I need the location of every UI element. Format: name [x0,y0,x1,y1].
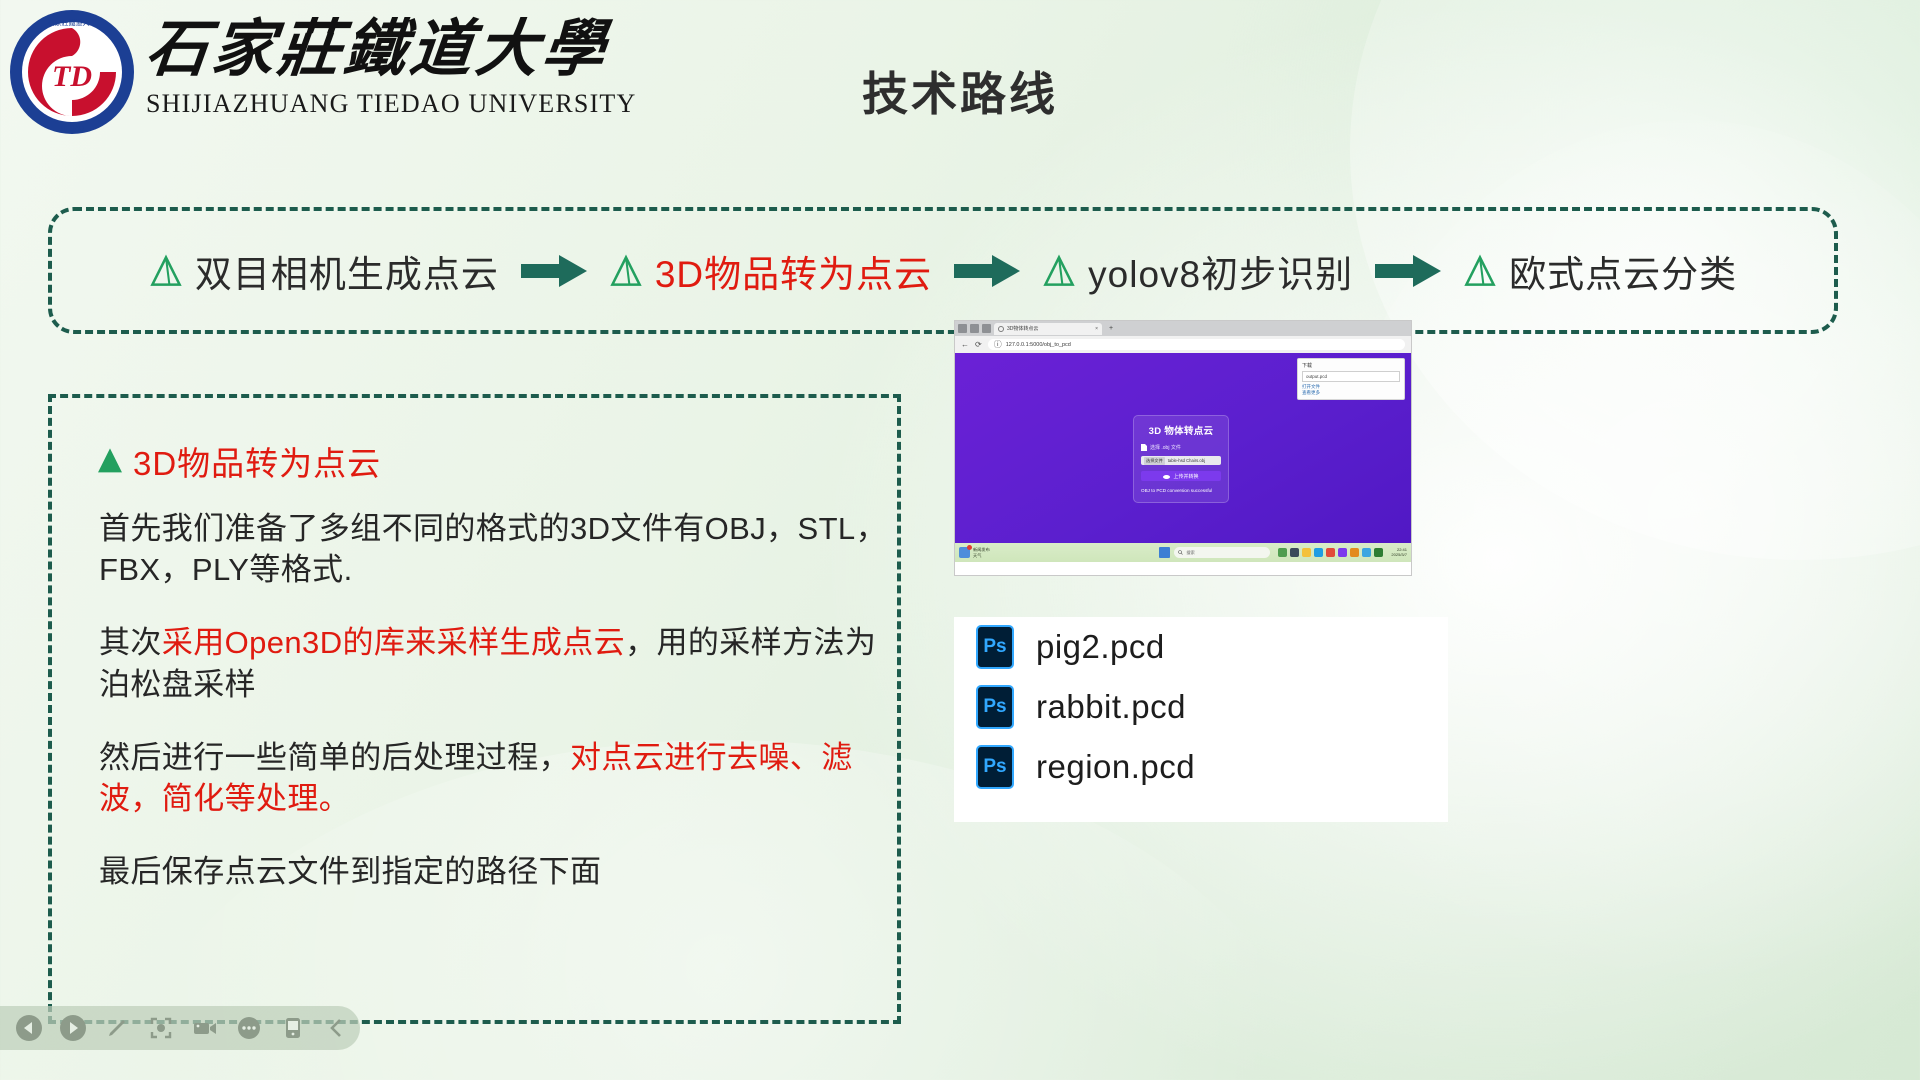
app-icon-2[interactable] [1290,548,1299,557]
flow-step-3: yolov8初步识别 [1042,244,1353,298]
start-button-icon[interactable] [1159,547,1170,558]
taskbar-notification-sub: 天气 [973,553,981,558]
paragraph-1-seg-1: 首先我们准备了多组不同的格式的3D文件有OBJ，STL，FBX，PLY等格式. [99,511,887,587]
conversion-status-text: OBJ to PCD conversion successful [1141,488,1221,493]
flow-step-2: 3D物品转为点云 [609,244,932,298]
app-icon-7[interactable] [1374,548,1383,557]
pen-icon[interactable] [102,1013,132,1043]
download-popup-title: 下载 [1302,362,1400,369]
taskbar-date: 2025/3/7 [1391,552,1407,557]
app-icon-4[interactable] [1338,548,1347,557]
file-name-label: region.pcd [1036,748,1195,786]
news-icon [959,547,970,558]
converter-card-title: 3D 物体转点云 [1141,423,1221,437]
app-icon-1[interactable] [1278,548,1287,557]
triangle-bullet-icon [149,254,183,288]
flow-arrow-1-icon [521,253,587,289]
triangle-bullet-icon [609,254,643,288]
more-options-icon[interactable] [234,1013,264,1043]
taskbar-notification-title: 新闻发布 [973,547,990,552]
new-tab-icon[interactable]: + [1105,325,1117,332]
pcd-file-list: Ps pig2.pcd Ps rabbit.pcd Ps region.pcd [954,617,1448,822]
reload-icon[interactable]: ⟳ [975,340,982,349]
back-icon[interactable]: ← [961,340,969,349]
left-content-panel: 3D物品转为点云 首先我们准备了多组不同的格式的3D文件有OBJ，STL，FBX… [48,394,901,1024]
browser-screenshot-image: 3D物体转点云 × + ← ⟳ ⓘ 127.0.0.1:5000/obj_to_… [954,320,1412,576]
paragraph-2-seg-1: 其次 [99,625,162,660]
converter-card: 3D 物体转点云 选择 .obj 文件 选择文件 table-hsd Chair… [1133,415,1229,503]
taskbar-search-placeholder: 搜索 [1186,550,1194,556]
paragraph-2: 其次采用Open3D的库来采样生成点云，用的采样方法为泊松盘采样 [99,622,889,704]
taskbar-search-input[interactable]: 搜索 [1174,547,1270,558]
windows-taskbar: 新闻发布 天气 搜索 22:41 [955,543,1411,562]
flow-step-2-label: 3D物品转为点云 [655,244,932,298]
taskbar-pinned-icons [1278,548,1383,557]
paragraph-4: 最后保存点云文件到指定的路径下面 [99,851,889,892]
browser-url-bar: ← ⟳ ⓘ 127.0.0.1:5000/obj_to_pcd [955,336,1411,353]
url-input[interactable]: ⓘ 127.0.0.1:5000/obj_to_pcd [988,339,1405,350]
paragraph-1: 首先我们准备了多组不同的格式的3D文件有OBJ，STL，FBX，PLY等格式. [99,508,889,590]
tab-search-icon [970,324,979,333]
triangle-bullet-icon [1463,254,1497,288]
list-item[interactable]: Ps region.pcd [954,737,1448,797]
file-browse-button[interactable]: 选择文件 [1144,457,1165,465]
flow-step-1: 双目相机生成点云 [149,244,499,298]
download-file-name: output.pcd [1306,374,1327,379]
file-name-label: pig2.pcd [1036,628,1165,666]
next-slide-icon[interactable] [58,1013,88,1043]
cloud-upload-icon [1163,474,1170,479]
svg-text:石家莊鐵道大學: 石家莊鐵道大學 [48,18,97,27]
zoom-region-icon[interactable] [146,1013,176,1043]
flow-step-4: 欧式点云分类 [1463,244,1737,298]
collapse-icon[interactable] [322,1013,352,1043]
triangle-bullet-icon [97,448,123,474]
file-explorer-icon[interactable] [1302,548,1311,557]
choose-file-label: 选择 .obj 文件 [1150,444,1181,451]
browser-tab[interactable]: 3D物体转点云 × [994,323,1102,335]
flow-arrow-3-icon [1375,253,1441,289]
triangle-bullet-icon [1042,254,1076,288]
download-more-link[interactable]: 查看更多 [1302,390,1400,396]
tab-favicon-icon [998,326,1004,332]
paragraph-3-seg-1: 然后进行一些简单的后处理过程， [99,740,570,775]
download-popup: 下载 output.pcd 打开文件 查看更多 [1297,358,1405,400]
app-icon-5[interactable] [1350,548,1359,557]
paragraph-4-seg-1: 最后保存点云文件到指定的路径下面 [99,854,601,889]
document-icon [1141,444,1147,451]
file-name-label: rabbit.pcd [1036,688,1186,726]
photoshop-file-icon: Ps [976,745,1014,789]
split-screen-icon [982,324,991,333]
list-item[interactable]: Ps rabbit.pcd [954,677,1448,737]
flow-step-1-label: 双目相机生成点云 [195,244,499,298]
camera-icon[interactable] [190,1013,220,1043]
panel-heading: 3D物品转为点云 [97,437,381,485]
app-icon-6[interactable] [1362,548,1371,557]
browser-viewport: 下载 output.pcd 打开文件 查看更多 3D 物体转点云 选择 .obj… [955,353,1411,543]
photoshop-file-icon: Ps [976,685,1014,729]
app-icon-3[interactable] [1326,548,1335,557]
paragraph-3: 然后进行一些简单的后处理过程，对点云进行去噪、滤波，简化等处理。 [99,737,889,819]
site-info-icon[interactable]: ⓘ [994,339,1002,350]
panel-paragraphs: 首先我们准备了多组不同的格式的3D文件有OBJ，STL，FBX，PLY等格式. … [99,508,889,925]
upload-convert-label: 上传并转换 [1173,473,1198,480]
browser-tab-strip: 3D物体转点云 × + [955,321,1411,336]
photoshop-file-icon: Ps [976,625,1014,669]
taskbar-clock[interactable]: 22:41 2025/3/7 [1391,548,1407,558]
download-item[interactable]: output.pcd [1302,371,1400,382]
paragraph-2-seg-2: 采用Open3D的库来采样生成点云 [162,625,625,660]
flow-step-3-label: yolov8初步识别 [1088,244,1353,298]
url-text: 127.0.0.1:5000/obj_to_pcd [1006,342,1071,348]
page-title: 技术路线 [0,58,1920,124]
slide-header: TD 石家莊鐵道大學 TIEDAO 石家莊鐵道大學 SHIJIAZHUANG T… [0,0,1920,168]
upload-convert-button[interactable]: 上传并转换 [1141,471,1221,481]
svg-text:TIEDAO: TIEDAO [60,125,84,132]
presentation-toolbar [0,1006,360,1050]
choose-file-label-row: 选择 .obj 文件 [1141,444,1221,451]
taskbar-notification[interactable]: 新闻发布 天气 [959,547,990,558]
selected-file-name: table-hsd Chairs.obj [1168,458,1205,463]
edge-icon[interactable] [1314,548,1323,557]
close-tab-icon[interactable]: × [1095,326,1098,332]
technical-route-flow: 双目相机生成点云 3D物品转为点云 yolov8初步识别 欧式点云分类 [48,207,1838,334]
flow-step-4-label: 欧式点云分类 [1509,244,1737,298]
panel-heading-label: 3D物品转为点云 [133,437,381,485]
browser-tab-title: 3D物体转点云 [1007,325,1038,332]
flow-arrow-2-icon [954,253,1020,289]
profile-icon [958,324,967,333]
presenter-view-icon[interactable] [278,1013,308,1043]
list-item[interactable]: Ps pig2.pcd [954,617,1448,677]
prev-slide-icon[interactable] [14,1013,44,1043]
taskbar-center: 搜索 [1159,547,1383,558]
search-icon [1178,550,1183,555]
file-input[interactable]: 选择文件 table-hsd Chairs.obj [1141,456,1221,465]
